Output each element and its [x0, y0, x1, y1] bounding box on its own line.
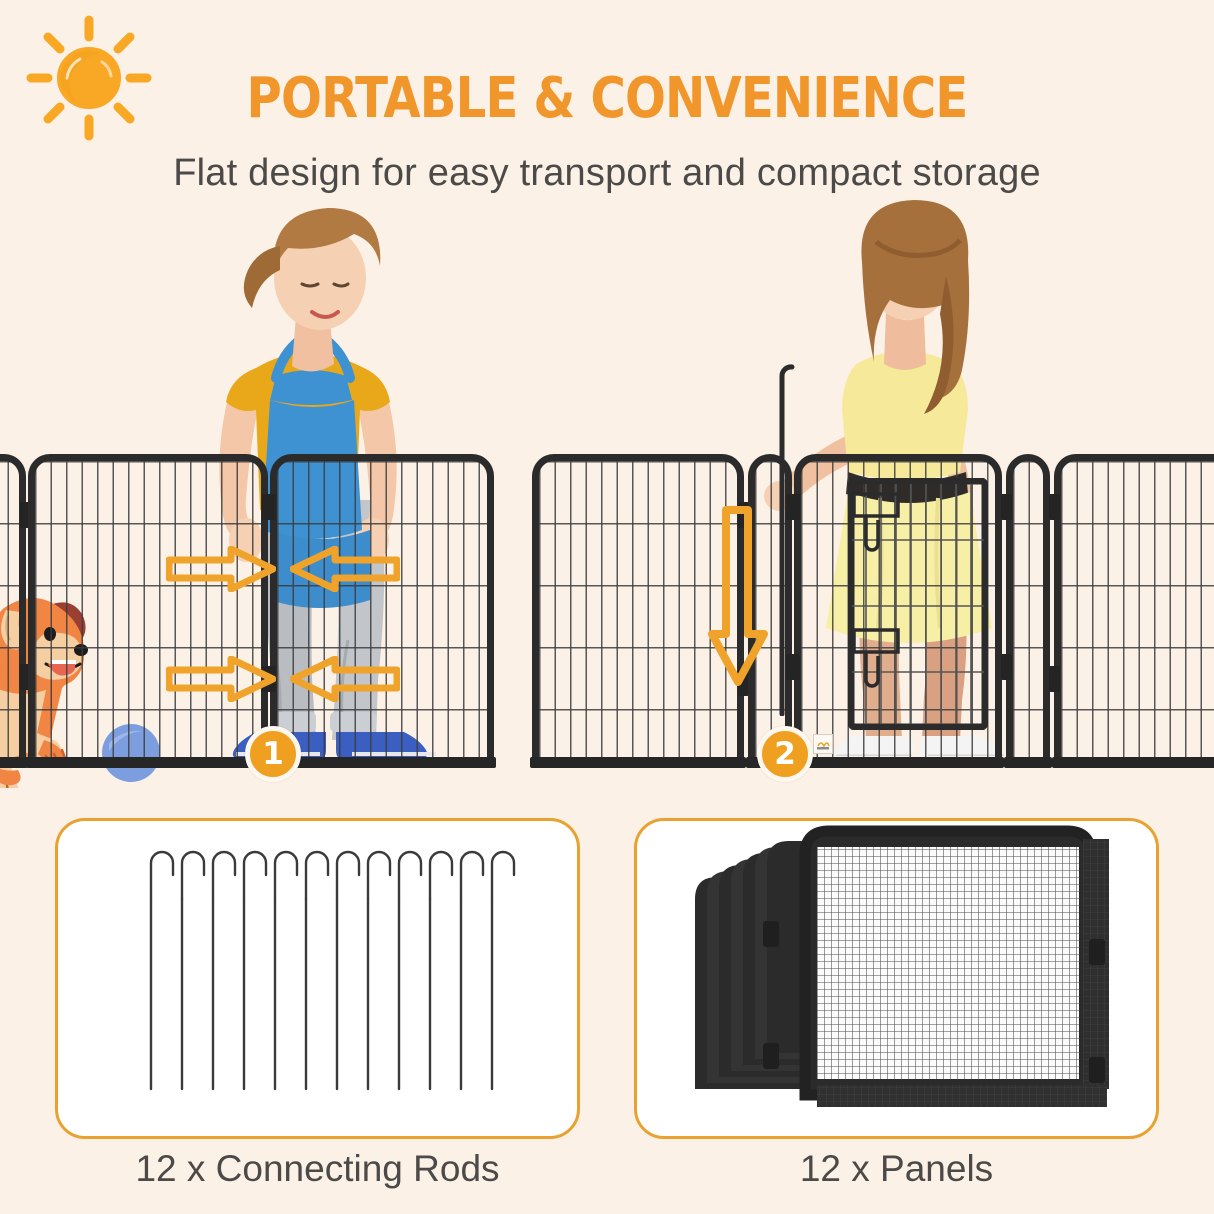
panels-card-label: 12 x Panels [634, 1148, 1159, 1190]
connecting-rods-card [55, 818, 580, 1139]
arrow-left-lower [290, 656, 400, 702]
arrow-right-upper [166, 546, 276, 592]
product-scene: 1 2 [0, 196, 1214, 796]
connecting-rods-card-label: 12 x Connecting Rods [55, 1148, 580, 1190]
infographic-page: PORTABLE & CONVENIENCE Flat design for e… [0, 0, 1214, 1214]
fence-panel-gate [794, 454, 1002, 764]
fence-panel [0, 454, 26, 764]
page-title: PORTABLE & CONVENIENCE [85, 66, 1129, 131]
connecting-rod-in-hand [768, 354, 798, 716]
fence-panel [270, 454, 494, 764]
fence-panel [28, 454, 268, 764]
page-subtitle: Flat design for easy transport and compa… [0, 152, 1214, 195]
step-badge-2: 2 [757, 726, 813, 782]
panels-card [634, 818, 1159, 1139]
connecting-rods-illustration [58, 821, 577, 1136]
playpen-fence [0, 454, 1214, 792]
step-badge-1: 1 [245, 726, 301, 782]
fence-panel [1006, 454, 1050, 764]
arrow-down [700, 506, 778, 686]
brand-tag-icon [813, 734, 833, 754]
gate-door [848, 478, 988, 730]
arrow-left-upper [290, 546, 400, 592]
fence-panel [1054, 454, 1214, 764]
panels-stack-illustration [637, 821, 1156, 1136]
arrow-right-lower [166, 656, 276, 702]
